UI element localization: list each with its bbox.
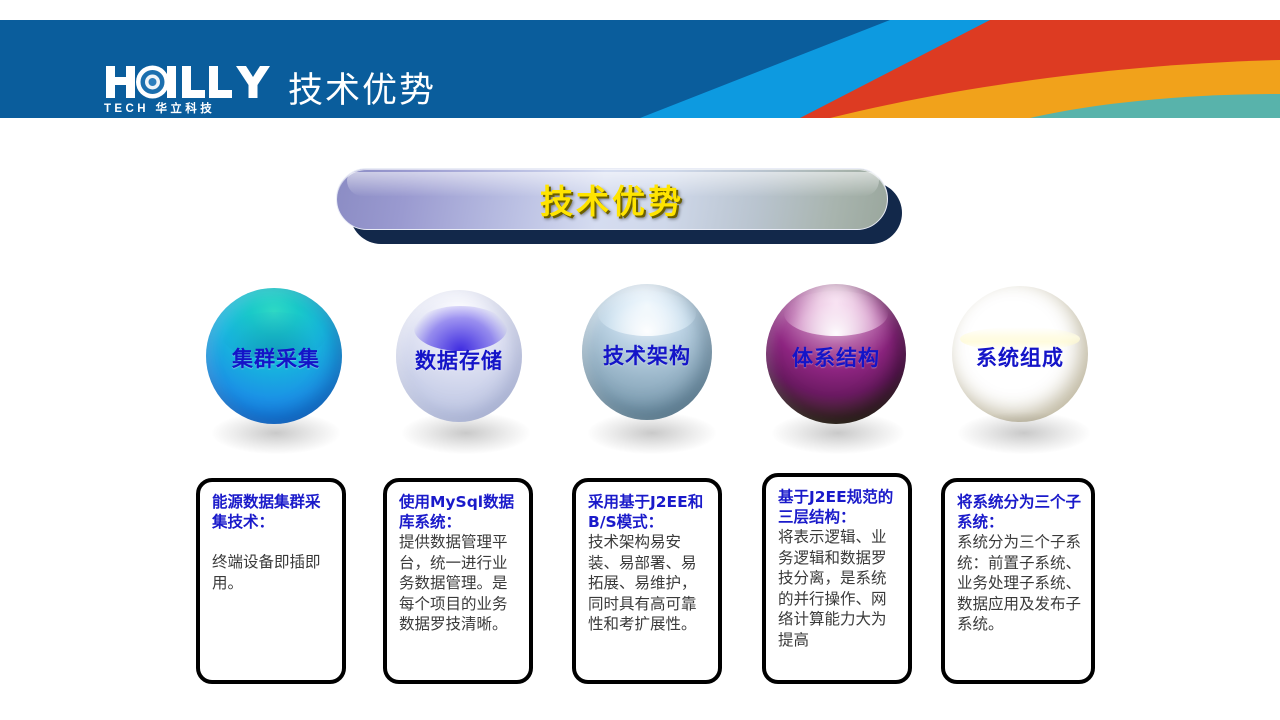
sphere-data-storage[interactable]: 数据存储 [396, 290, 536, 460]
slide-header: TECH 华立科技 技术优势 [0, 20, 1280, 118]
card-body: 提供数据管理平台，统一进行业务数据管理。是每个项目的业务数据罗技清晰。 [399, 532, 521, 635]
sphere-label: 技术架构 [582, 340, 712, 370]
card-body: 终端设备即插即用。 [212, 552, 334, 593]
sphere-label: 系统组成 [952, 342, 1088, 372]
sphere-system-composition[interactable]: 系统组成 [952, 286, 1098, 458]
card-body: 系统分为三个子系统：前置子系统、业务处理子系统、数据应用及发布子系统。 [957, 532, 1083, 635]
title-banner-text: 技术优势 [336, 168, 888, 230]
card-body: 将表示逻辑、业务逻辑和数据罗技分离，是系统的并行操作、网络计算能力大为提高 [778, 527, 900, 650]
card-tech-architecture[interactable]: 采用基于J2EE和B/S模式： 技术架构易安装、易部署、易拓展、易维护，同时具有… [572, 478, 722, 684]
card-data-storage[interactable]: 使用MySql数据库系统： 提供数据管理平台，统一进行业务数据管理。是每个项目的… [383, 478, 533, 684]
holley-logo: TECH 华立科技 [104, 64, 270, 118]
sphere-label: 体系结构 [766, 342, 906, 372]
card-heading: 将系统分为三个子系统： [957, 492, 1083, 532]
card-heading: 使用MySql数据库系统： [399, 492, 521, 532]
holley-logo-subtitle: TECH 华立科技 [104, 100, 270, 118]
sphere-system-architecture[interactable]: 体系结构 [766, 284, 912, 456]
card-cluster-collection[interactable]: 能源数据集群采集技术： 终端设备即插即用。 [196, 478, 346, 684]
sphere-highlight [414, 306, 507, 351]
card-body: 技术架构易安装、易部署、易拓展、易维护，同时具有高可靠性和考扩展性。 [588, 532, 710, 635]
card-heading: 能源数据集群采集技术： [212, 492, 334, 532]
sphere-highlight [784, 291, 888, 336]
sphere-tech-architecture[interactable]: 技术架构 [582, 284, 722, 456]
sphere-label: 集群采集 [206, 343, 346, 373]
card-heading: 采用基于J2EE和B/S模式： [588, 492, 710, 532]
sphere-label: 数据存储 [396, 345, 522, 375]
header-title: 技术优势 [288, 68, 436, 114]
title-banner: 技术优势 [336, 168, 906, 250]
card-system-composition[interactable]: 将系统分为三个子系统： 系统分为三个子系统：前置子系统、业务处理子系统、数据应用… [941, 478, 1095, 684]
slide-canvas: TECH 华立科技 技术优势 技术优势 集群采集 数据存储 技术架构 [0, 0, 1280, 720]
sphere-cluster-collection[interactable]: 集群采集 [206, 288, 346, 458]
sphere-highlight [598, 291, 697, 336]
card-system-architecture[interactable]: 基于J2EE规范的三层结构： 将表示逻辑、业务逻辑和数据罗技分离，是系统的并行操… [762, 473, 912, 684]
card-heading: 基于J2EE规范的三层结构： [778, 487, 900, 527]
holley-wordmark-icon [104, 64, 270, 100]
